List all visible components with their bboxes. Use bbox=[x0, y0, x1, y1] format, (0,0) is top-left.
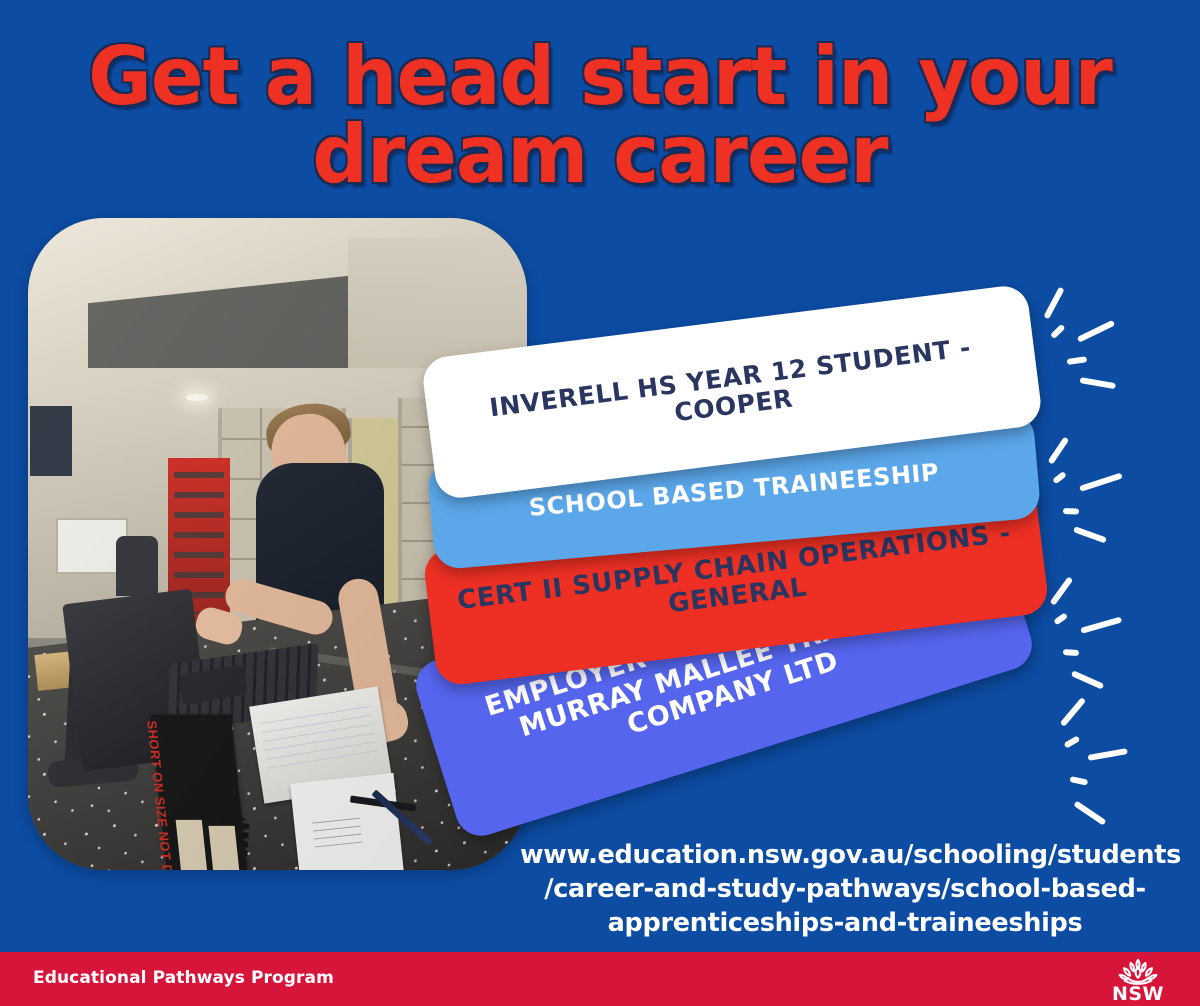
page-title: Get a head start in your dream career bbox=[18, 38, 1182, 195]
ceiling-light-2 bbox=[186, 394, 208, 401]
starburst-ray bbox=[1080, 377, 1116, 389]
starburst-ray bbox=[1072, 526, 1106, 543]
background-monitor bbox=[30, 406, 72, 476]
nsw-wordmark: NSW bbox=[1112, 985, 1164, 1004]
starburst-ray bbox=[1044, 286, 1065, 319]
starburst-ray bbox=[1053, 612, 1068, 625]
starburst-ray bbox=[1048, 436, 1070, 464]
poster-canvas: Get a head start in your dream career bbox=[0, 0, 1200, 1006]
starburst-ray bbox=[1073, 800, 1106, 825]
nsw-logo: NSW bbox=[1100, 956, 1176, 1004]
office-chair bbox=[116, 536, 158, 596]
starburst-ray bbox=[1087, 748, 1127, 761]
website-url[interactable]: www.education.nsw.gov.au/schooling/stude… bbox=[520, 838, 1170, 940]
starburst-ray bbox=[1080, 617, 1122, 634]
starburst-ray bbox=[1071, 670, 1105, 689]
starburst-ray bbox=[1079, 473, 1123, 492]
program-label: Educational Pathways Program bbox=[33, 968, 334, 988]
starburst-ray bbox=[1069, 776, 1088, 786]
sign-card-b bbox=[208, 826, 240, 870]
starburst-ray bbox=[1077, 320, 1116, 343]
starburst-ray bbox=[1060, 697, 1086, 727]
card-student-label: INVERELL HS YEAR 12 STUDENT - COOPER bbox=[452, 329, 1013, 454]
waratah-icon bbox=[1110, 956, 1166, 986]
starburst-ray bbox=[1063, 508, 1079, 515]
starburst-ray bbox=[1050, 324, 1066, 339]
starburst-ray bbox=[1049, 576, 1073, 605]
footer-bar: Educational Pathways Program NSW bbox=[0, 952, 1200, 1006]
notepad bbox=[290, 773, 406, 870]
starburst-ray bbox=[1063, 649, 1079, 656]
starburst-ray bbox=[1066, 357, 1087, 366]
sign-card-a bbox=[176, 820, 208, 870]
starburst-ray bbox=[1063, 735, 1080, 748]
starburst-ray bbox=[1052, 471, 1067, 484]
